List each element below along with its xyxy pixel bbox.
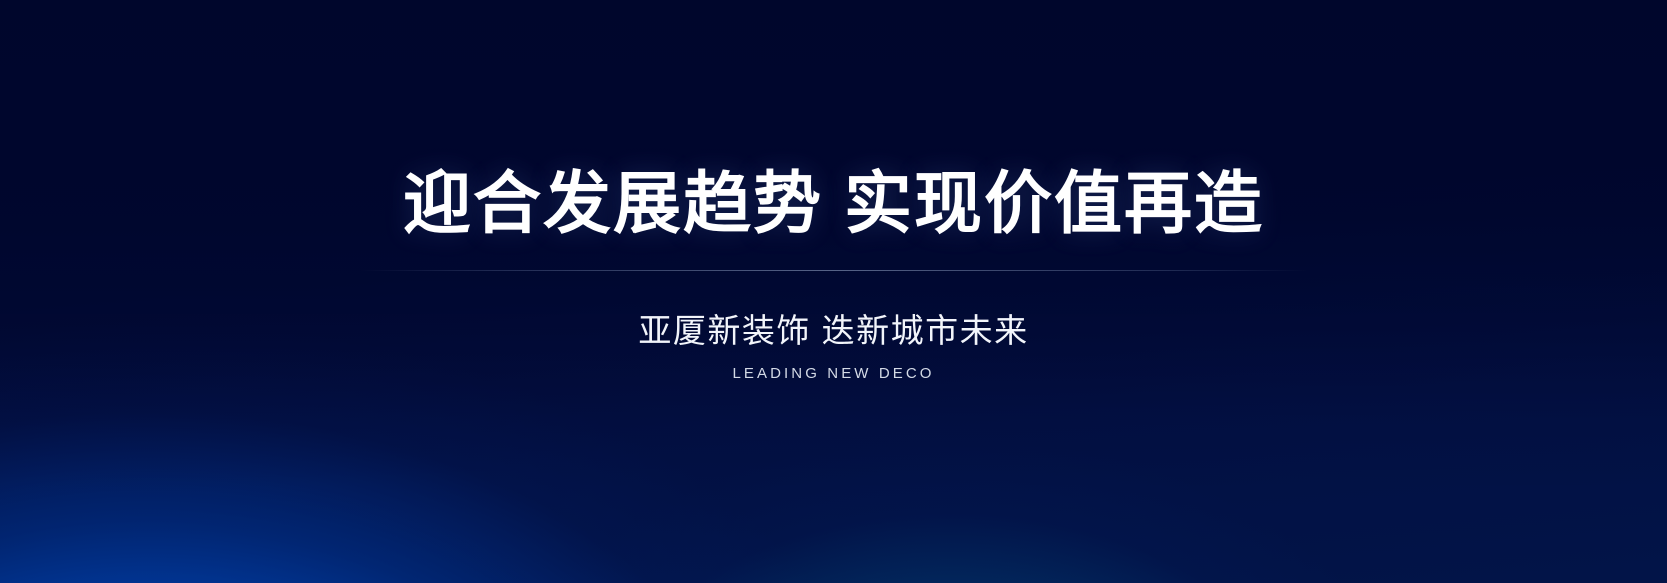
banner-headline: 迎合发展趋势 实现价值再造 xyxy=(403,168,1264,240)
banner-subtitle: 亚厦新装饰 迭新城市未来 xyxy=(638,304,1028,352)
banner-tagline: LEADING NEW DECO xyxy=(732,365,934,382)
banner-content: 迎合发展趋势 实现价值再造 亚厦新装饰 迭新城市未来 LEADING NEW D… xyxy=(0,0,1667,583)
hero-banner: 迎合发展趋势 实现价值再造 亚厦新装饰 迭新城市未来 LEADING NEW D… xyxy=(0,0,1667,583)
banner-divider xyxy=(360,270,1307,271)
